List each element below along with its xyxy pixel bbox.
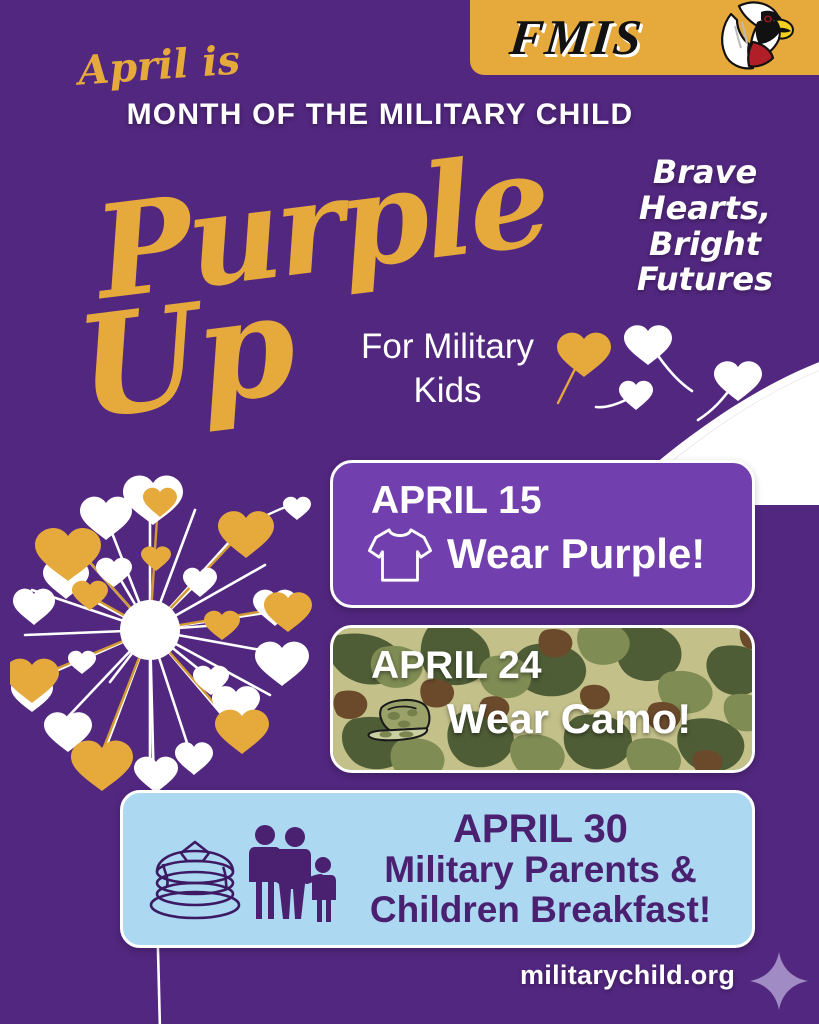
event-label-2: Wear Camo!: [447, 698, 691, 741]
page-title: MONTH OF THE MILITARY CHILD: [0, 98, 760, 132]
event-date-2: APRIL 24: [333, 646, 752, 686]
hero-tagline: Brave Hearts, Bright Futures: [630, 155, 780, 298]
fmis-brand-label: FMIS: [507, 12, 645, 62]
hero-subtitle: For Military Kids: [340, 325, 555, 413]
event-card-april-24[interactable]: APRIL 24: [330, 625, 755, 773]
poster-canvas: FMIS April is MONTH OF THE MILITARY CHIL…: [0, 0, 819, 1024]
t-shirt-icon: [361, 523, 439, 587]
eagle-mascot-icon: [709, 0, 795, 72]
floating-heart-seeds: [540, 325, 819, 465]
event-label-1: Wear Purple!: [447, 533, 705, 576]
eyebrow-april-is: April is: [77, 36, 242, 94]
event-card-april-30[interactable]: APRIL 30 Military Parents & Children Bre…: [120, 790, 755, 948]
event-label-3-line1: Military Parents &: [384, 850, 697, 890]
hero-script-up: Up: [72, 287, 298, 427]
event-date-1: APRIL 15: [333, 481, 752, 521]
four-point-star-icon: [748, 950, 810, 1012]
event-icons-group-3: [143, 809, 343, 929]
footer-website-url[interactable]: militarychild.org: [520, 960, 735, 991]
event-card-april-15[interactable]: APRIL 15 Wear Purple!: [330, 460, 755, 608]
military-cap-icon: [361, 688, 439, 752]
fmis-brand-banner: FMIS: [470, 0, 819, 75]
event-label-3-line2: Children Breakfast!: [370, 890, 711, 930]
event-date-3: APRIL 30: [453, 808, 628, 850]
